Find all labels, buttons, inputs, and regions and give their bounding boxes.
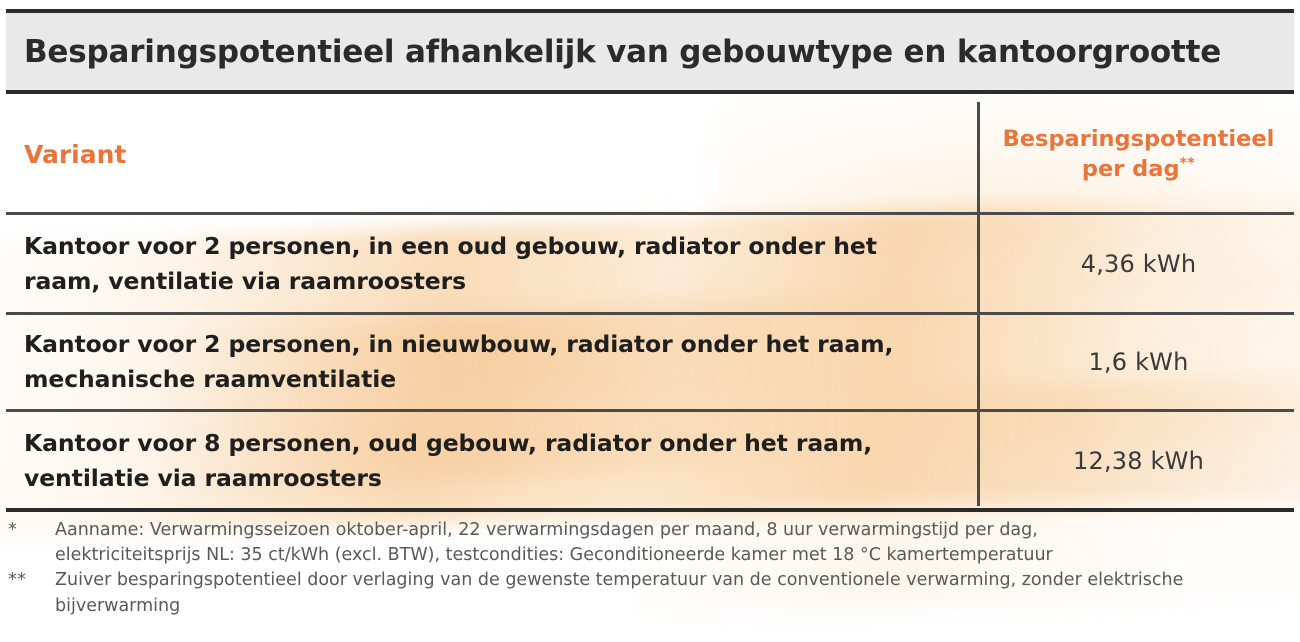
cell-variant: Kantoor voor 2 personen, in een oud gebo… (6, 215, 977, 312)
footnote-marker-superscript: ** (1180, 156, 1196, 172)
footnote-double-asterisk: ** Zuiver besparingspotentieel door verl… (0, 568, 1300, 618)
column-header-variant: Variant (24, 138, 126, 171)
cell-variant: Kantoor voor 8 personen, oud gebouw, rad… (6, 412, 977, 510)
cell-savings-value: 4,36 kWh (977, 215, 1294, 312)
cell-savings-value: 1,6 kWh (977, 315, 1294, 409)
footnote-marker: * (0, 518, 55, 543)
page-root: Besparingspotentieel afhankelijk van geb… (0, 0, 1300, 642)
savings-value: 1,6 kWh (1088, 348, 1188, 376)
table-row: Kantoor voor 2 personen, in een oud gebo… (6, 215, 1294, 315)
column-header-savings-line1: Besparingspotentieel (1003, 126, 1275, 152)
table-header-row: Variant Besparingspotentieel per dag** (6, 96, 1294, 215)
cell-savings-value: 12,38 kWh (977, 412, 1294, 510)
footnote-single-asterisk: * Aanname: Verwarmingsseizoen oktober-ap… (0, 518, 1300, 568)
footnote-text: Aanname: Verwarmingsseizoen oktober-apri… (55, 518, 1300, 568)
page-title: Besparingspotentieel afhankelijk van geb… (6, 34, 1221, 70)
savings-potential-table: Variant Besparingspotentieel per dag** K… (6, 96, 1294, 512)
footnote-text: Zuiver besparingspotentieel door verlagi… (55, 568, 1300, 618)
footnote-line: bijverwarming (55, 594, 1290, 619)
footnote-line: Aanname: Verwarmingsseizoen oktober-apri… (55, 518, 1290, 543)
savings-value: 4,36 kWh (1081, 250, 1197, 278)
variant-description: Kantoor voor 8 personen, oud gebouw, rad… (24, 426, 961, 496)
column-header-savings-line2: per dag (1082, 156, 1180, 182)
variant-description: Kantoor voor 2 personen, in een oud gebo… (24, 229, 961, 299)
footnote-line: Zuiver besparingspotentieel door verlagi… (55, 568, 1290, 593)
table-row: Kantoor voor 2 personen, in nieuwbouw, r… (6, 315, 1294, 412)
variant-description: Kantoor voor 2 personen, in nieuwbouw, r… (24, 327, 961, 397)
column-header-savings: Besparingspotentieel per dag** (1003, 124, 1275, 185)
column-divider (977, 102, 980, 506)
savings-value: 12,38 kWh (1073, 447, 1204, 475)
footnote-line: elektriciteitsprijs NL: 35 ct/kWh (excl.… (55, 543, 1290, 568)
cell-variant: Kantoor voor 2 personen, in nieuwbouw, r… (6, 315, 977, 409)
footnote-marker: ** (0, 568, 55, 593)
header-cell-savings: Besparingspotentieel per dag** (977, 96, 1294, 212)
footnotes: * Aanname: Verwarmingsseizoen oktober-ap… (0, 518, 1300, 619)
title-band: Besparingspotentieel afhankelijk van geb… (6, 9, 1294, 94)
table-row: Kantoor voor 8 personen, oud gebouw, rad… (6, 412, 1294, 510)
header-cell-variant: Variant (6, 96, 977, 212)
